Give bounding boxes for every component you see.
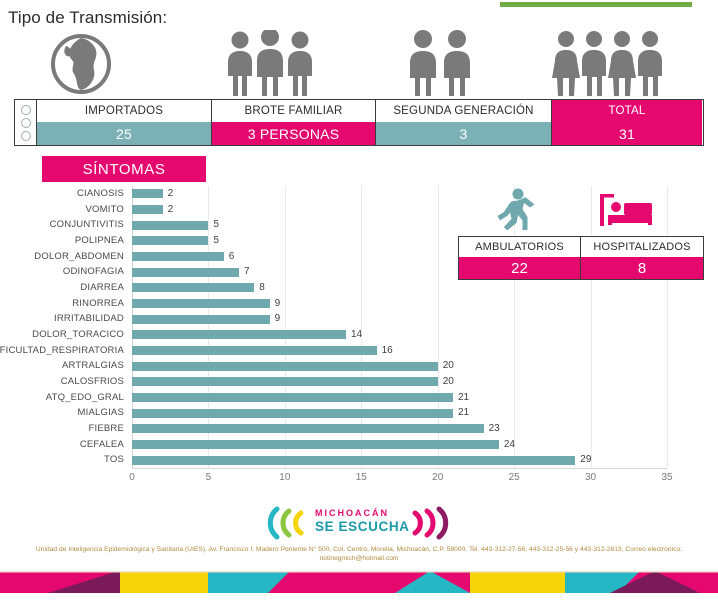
care-column-hospitalizados: HOSPITALIZADOS 8 bbox=[581, 237, 703, 279]
bar-value-label: 29 bbox=[580, 455, 591, 464]
category-label: CEFALEA bbox=[80, 440, 124, 449]
bar-value-label: 21 bbox=[458, 408, 469, 417]
care-label-ambulatorios: AMBULATORIOS bbox=[459, 237, 580, 257]
care-value-ambulatorios: 22 bbox=[459, 257, 580, 279]
x-tick-label: 25 bbox=[509, 472, 520, 483]
bar bbox=[132, 252, 224, 261]
bar bbox=[132, 236, 208, 245]
category-label: CONJUNTIVITIS bbox=[50, 220, 124, 229]
bar bbox=[132, 205, 163, 214]
bar bbox=[132, 362, 438, 371]
page-title: Tipo de Transmisión: bbox=[8, 8, 167, 28]
care-label-hospitalizados: HOSPITALIZADOS bbox=[581, 237, 703, 257]
bar-value-label: 7 bbox=[244, 267, 250, 276]
two-people-icon bbox=[355, 26, 525, 96]
bar bbox=[132, 221, 208, 230]
bar-value-label: 6 bbox=[229, 252, 235, 261]
transmission-icon-row bbox=[0, 26, 718, 96]
bar-value-label: 23 bbox=[489, 424, 500, 433]
sintomas-badge: SÍNTOMAS bbox=[42, 156, 206, 182]
bar-value-label: 20 bbox=[443, 377, 454, 386]
transmission-value-segunda-generacion: 3 bbox=[376, 122, 551, 145]
transmission-column-total: TOTAL 31 bbox=[552, 100, 702, 145]
four-people-icon bbox=[512, 26, 702, 96]
bar bbox=[132, 268, 239, 277]
category-label: ATQ_EDO_GRAL bbox=[46, 393, 124, 402]
bar bbox=[132, 189, 163, 198]
three-people-icon bbox=[205, 26, 335, 96]
bar-value-label: 2 bbox=[168, 189, 174, 198]
michoacan-se-escucha-logo: MICHOACÁN SE ESCUCHA bbox=[255, 503, 461, 543]
transmission-value-brote-familiar: 3 PERSONAS bbox=[212, 122, 375, 145]
symptoms-category-axis: CIANOSISVOMITOCONJUNTIVITISPOLIPNEADOLOR… bbox=[0, 186, 128, 468]
category-label: FIEBRE bbox=[88, 424, 124, 433]
bar-value-label: 20 bbox=[443, 361, 454, 370]
bar-value-label: 9 bbox=[275, 299, 281, 308]
x-tick-label: 35 bbox=[661, 472, 672, 483]
category-label: DIARREA bbox=[80, 283, 124, 292]
category-label: CIANOSIS bbox=[77, 189, 124, 198]
x-axis-line bbox=[132, 468, 667, 469]
transmission-label-brote-familiar: BROTE FAMILIAR bbox=[212, 100, 375, 122]
bar bbox=[132, 393, 453, 402]
bar-value-label: 24 bbox=[504, 440, 515, 449]
x-tick-label: 15 bbox=[356, 472, 367, 483]
bar-value-label: 5 bbox=[213, 220, 219, 229]
x-tick-label: 0 bbox=[129, 472, 135, 483]
transmission-table: IMPORTADOS 25 BROTE FAMILIAR 3 PERSONAS … bbox=[14, 99, 704, 146]
category-label: DOLOR_TORACICO bbox=[32, 330, 124, 339]
category-label: MIALGIAS bbox=[78, 408, 124, 417]
category-label: DOLOR_ABDOMEN bbox=[34, 252, 124, 261]
category-label: RINORREA bbox=[72, 299, 124, 308]
bar bbox=[132, 330, 346, 339]
bar bbox=[132, 377, 438, 386]
bar-value-label: 16 bbox=[382, 346, 393, 355]
transmission-value-total: 31 bbox=[552, 122, 702, 145]
transmission-label-total: TOTAL bbox=[552, 100, 702, 122]
category-label: CALOSFRIOS bbox=[61, 377, 124, 386]
bar-value-label: 2 bbox=[168, 205, 174, 214]
bar bbox=[132, 299, 270, 308]
transmission-label-segunda-generacion: SEGUNDA GENERACIÓN bbox=[376, 100, 551, 122]
category-label: DIFICULTAD_RESPIRATORIA bbox=[0, 346, 124, 355]
bar bbox=[132, 440, 499, 449]
x-tick-label: 5 bbox=[206, 472, 212, 483]
care-value-hospitalizados: 8 bbox=[581, 257, 703, 279]
bottom-color-stripe bbox=[0, 571, 718, 593]
care-icon-row bbox=[470, 188, 702, 230]
bar bbox=[132, 409, 453, 418]
bar bbox=[132, 315, 270, 324]
x-tick-label: 20 bbox=[432, 472, 443, 483]
globe-icon bbox=[22, 26, 140, 96]
transmission-label-importados: IMPORTADOS bbox=[37, 100, 211, 122]
bar bbox=[132, 456, 575, 465]
bar bbox=[132, 346, 377, 355]
care-table: AMBULATORIOS 22 HOSPITALIZADOS 8 bbox=[458, 236, 704, 280]
bar-value-label: 5 bbox=[213, 236, 219, 245]
bar-value-label: 14 bbox=[351, 330, 362, 339]
transmission-bullet-marker bbox=[15, 100, 37, 145]
x-tick-label: 30 bbox=[585, 472, 596, 483]
footer-contact-text: Unidad de Inteligencia Epidemiológica y … bbox=[16, 545, 702, 563]
logo-text: MICHOACÁN SE ESCUCHA bbox=[315, 508, 410, 534]
bar bbox=[132, 283, 254, 292]
x-tick-label: 10 bbox=[279, 472, 290, 483]
bar-value-label: 9 bbox=[275, 314, 281, 323]
transmission-value-importados: 25 bbox=[37, 122, 211, 145]
logo-line-2: SE ESCUCHA bbox=[315, 519, 410, 534]
category-label: IRRITABILIDAD bbox=[54, 314, 124, 323]
hospital-bed-icon bbox=[600, 192, 652, 233]
category-label: ODINOFAGIA bbox=[63, 267, 124, 276]
transmission-column-brote-familiar: BROTE FAMILIAR 3 PERSONAS bbox=[212, 100, 376, 145]
category-label: TOS bbox=[104, 455, 124, 464]
walking-person-icon bbox=[492, 188, 538, 235]
transmission-column-segunda-generacion: SEGUNDA GENERACIÓN 3 bbox=[376, 100, 552, 145]
bar-value-label: 21 bbox=[458, 393, 469, 402]
care-column-ambulatorios: AMBULATORIOS 22 bbox=[459, 237, 581, 279]
bar bbox=[132, 424, 484, 433]
logo-line-1: MICHOACÁN bbox=[315, 508, 410, 519]
transmission-column-importados: IMPORTADOS 25 bbox=[37, 100, 212, 145]
bar-value-label: 8 bbox=[259, 283, 265, 292]
top-accent-bar bbox=[500, 2, 692, 7]
category-label: POLIPNEA bbox=[75, 236, 124, 245]
category-label: ARTRALGIAS bbox=[62, 361, 124, 370]
category-label: VOMITO bbox=[86, 205, 125, 214]
